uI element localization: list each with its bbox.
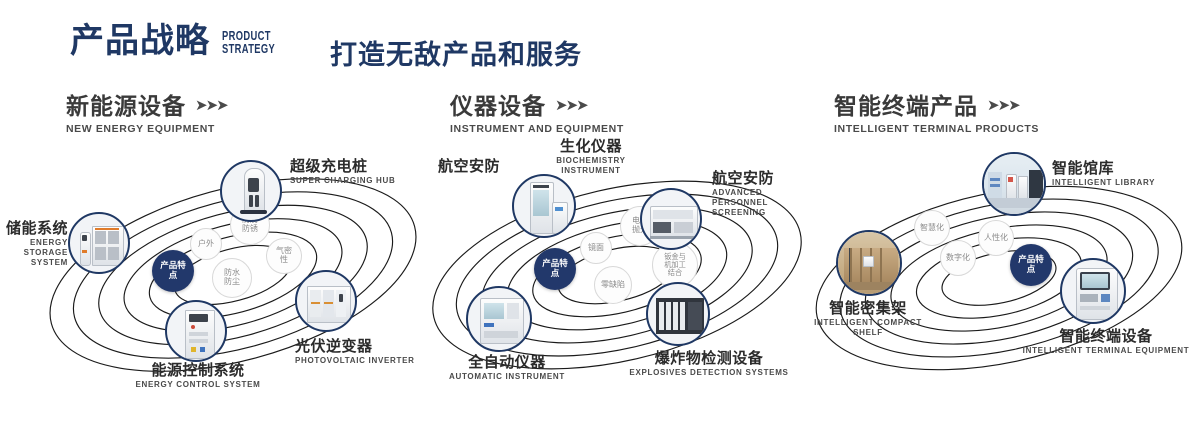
- core-bubble-label: 产品特点: [1018, 255, 1044, 274]
- feature-bubble-waterproof: 防水防尘: [212, 258, 252, 298]
- caption-energy-storage: 储能系统 ENERGY STORAGE SYSTEM: [0, 220, 68, 268]
- section-header-instrument: 仪器设备 ➤➤➤ INSTRUMENT AND EQUIPMENT: [450, 94, 624, 135]
- feature-bubble-outdoor: 户外: [190, 228, 222, 260]
- caption-en: EXPLOSIVES DETECTION SYSTEMS: [604, 368, 814, 378]
- node-advanced-personnel-screening[interactable]: [640, 188, 702, 250]
- auto-instrument-icon: [468, 288, 530, 350]
- section-title-text: 仪器设备: [450, 94, 546, 119]
- section-title-cn: 智能终端产品 ➤➤➤: [834, 94, 1039, 119]
- caption-aviation-security-side: 航空安防: [388, 158, 500, 175]
- caption-cn: 全自动仪器: [412, 354, 602, 371]
- caption-cn: 航空安防: [388, 158, 500, 175]
- caption-biochemistry-instrument: 生化仪器 BIOCHEMISTRY INSTRUMENT: [516, 138, 666, 176]
- section-header-new-energy: 新能源设备 ➤➤➤ NEW ENERGY EQUIPMENT: [66, 94, 227, 135]
- chevron-right-icon: ➤➤➤: [555, 98, 587, 115]
- page-title: 产品战略: [70, 24, 210, 58]
- core-bubble: 产品特点: [1010, 244, 1052, 286]
- section-title-text: 智能终端产品: [834, 94, 978, 119]
- node-biochemistry-instrument[interactable]: [512, 174, 576, 238]
- node-automatic-instrument[interactable]: [466, 286, 532, 352]
- caption-cn: 光伏逆变器: [295, 338, 445, 355]
- section-title-en: NEW ENERGY EQUIPMENT: [66, 123, 227, 135]
- section-title-en: INTELLIGENT TERMINAL PRODUCTS: [834, 123, 1039, 135]
- caption-cn: 能源控制系统: [88, 362, 308, 379]
- caption-en: INTELLIGENT TERMINAL EQUIPMENT: [1006, 346, 1200, 356]
- caption-cn: 爆炸物检测设备: [604, 350, 814, 367]
- energy-storage-cabinet-icon: [70, 214, 128, 272]
- caption-en: ENERGY STORAGE SYSTEM: [0, 238, 68, 268]
- node-intelligent-compact-shelf[interactable]: [836, 230, 902, 296]
- biochem-analyzer-icon: [514, 176, 574, 236]
- caption-explosives-detection: 爆炸物检测设备 EXPLOSIVES DETECTION SYSTEMS: [604, 350, 814, 378]
- section-title-en: INSTRUMENT AND EQUIPMENT: [450, 123, 624, 135]
- section-title-text: 新能源设备: [66, 94, 186, 119]
- caption-cn: 储能系统: [0, 220, 68, 237]
- screening-machine-icon: [642, 190, 700, 248]
- caption-cn: 生化仪器: [516, 138, 666, 155]
- caption-en: ENERGY CONTROL SYSTEM: [88, 380, 308, 390]
- section-title-cn: 新能源设备 ➤➤➤: [66, 94, 227, 119]
- feature-bubble-mirror: 镜面: [580, 232, 612, 264]
- section-header-intelligent-terminal: 智能终端产品 ➤➤➤ INTELLIGENT TERMINAL PRODUCTS: [834, 94, 1039, 135]
- library-room-icon: [984, 154, 1044, 214]
- core-bubble: 产品特点: [152, 250, 194, 292]
- caption-automatic-instrument: 全自动仪器 AUTOMATIC INSTRUMENT: [412, 354, 602, 382]
- feature-bubble-humanization: 人性化: [978, 220, 1014, 256]
- node-energy-storage[interactable]: [68, 212, 130, 274]
- node-energy-control-system[interactable]: [165, 300, 227, 362]
- node-intelligent-terminal-equipment[interactable]: [1060, 258, 1126, 324]
- feature-bubble-airtight: 气密性: [266, 238, 302, 274]
- cluster-intelligent-terminal: 产品特点 智慧化 数字化 人性化 智能馆库 INTELLIGENT LIBRAR…: [806, 150, 1196, 400]
- caption-cn: 智能密集架: [778, 300, 958, 317]
- page-title-english-line2: STRATEGY: [222, 43, 275, 55]
- feature-bubble-digitalization: 数字化: [940, 240, 976, 276]
- chevron-right-icon: ➤➤➤: [987, 98, 1019, 115]
- node-super-charging-hub[interactable]: [220, 160, 282, 222]
- caption-cn: 智能终端设备: [1006, 328, 1200, 345]
- poster-header: 产品战略 PRODUCT STRATEGY: [70, 24, 296, 58]
- inverter-cabinet-icon: [297, 272, 355, 330]
- page-slogan: 打造无敌产品和服务: [330, 33, 582, 72]
- caption-en: INTELLIGENT COMPACT SHELF: [808, 318, 928, 338]
- caption-intelligent-library: 智能馆库 INTELLIGENT LIBRARY: [1052, 160, 1192, 188]
- feature-bubble-intelligence: 智慧化: [914, 210, 950, 246]
- feature-bubble-label: 防水防尘: [224, 269, 241, 287]
- caption-cn: 智能馆库: [1052, 160, 1192, 177]
- compact-shelf-icon: [838, 232, 900, 294]
- charging-pile-icon: [222, 162, 280, 220]
- node-intelligent-library[interactable]: [982, 152, 1046, 216]
- feature-bubble-label: 钣金与机加工结合: [661, 253, 689, 277]
- caption-en: BIOCHEMISTRY INSTRUMENT: [550, 156, 632, 176]
- page-title-english: PRODUCT STRATEGY: [222, 30, 275, 55]
- caption-energy-control-system: 能源控制系统 ENERGY CONTROL SYSTEM: [88, 362, 308, 390]
- caption-en: ADVANCED PERSONNEL SCREENING: [712, 188, 808, 218]
- chevron-right-icon: ➤➤➤: [195, 98, 227, 115]
- core-bubble-label: 产品特点: [160, 261, 186, 280]
- core-bubble: 产品特点: [534, 248, 576, 290]
- caption-intelligent-terminal-equipment: 智能终端设备 INTELLIGENT TERMINAL EQUIPMENT: [1006, 328, 1200, 356]
- cluster-new-energy: 产品特点 户外 防腐防锈 防水防尘 气密性: [40, 150, 430, 400]
- cluster-instrument: 产品特点 镜面 电解抛光 零缺陷 钣金与机加工结合 生化仪器 BIOCHEMIS…: [424, 150, 814, 400]
- caption-intelligent-compact-shelf: 智能密集架 INTELLIGENT COMPACT SHELF: [778, 300, 958, 338]
- node-photovoltaic-inverter[interactable]: [295, 270, 357, 332]
- core-bubble-label: 产品特点: [542, 259, 568, 278]
- section-title-cn: 仪器设备 ➤➤➤: [450, 94, 624, 119]
- detection-rack-icon: [648, 284, 708, 344]
- caption-en: SUPER CHARGING HUB: [290, 176, 420, 186]
- feature-bubble-label: 气密性: [273, 247, 295, 265]
- control-cabinet-icon: [167, 302, 225, 360]
- kiosk-terminal-icon: [1062, 260, 1124, 322]
- caption-en: AUTOMATIC INSTRUMENT: [412, 372, 602, 382]
- node-explosives-detection[interactable]: [646, 282, 710, 346]
- feature-bubble-zero-defect: 零缺陷: [594, 266, 632, 304]
- product-strategy-poster: 产品战略 PRODUCT STRATEGY 打造无敌产品和服务 新能源设备 ➤➤…: [0, 0, 1200, 422]
- caption-en: INTELLIGENT LIBRARY: [1052, 178, 1192, 188]
